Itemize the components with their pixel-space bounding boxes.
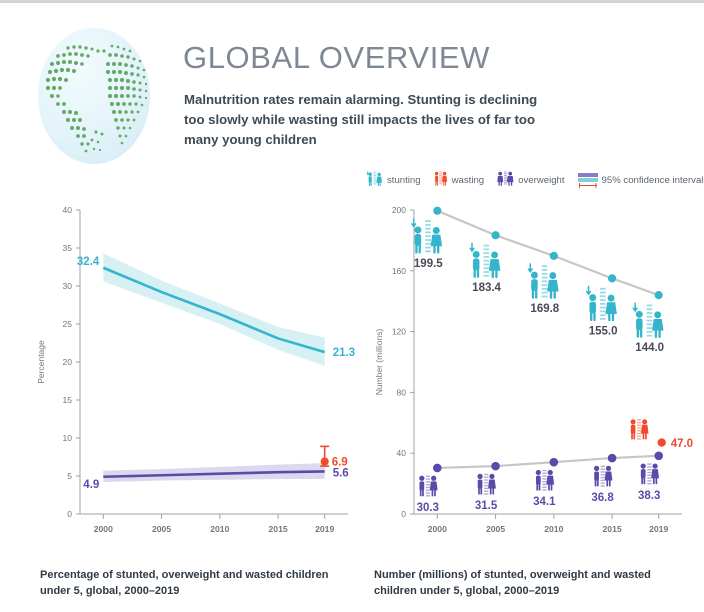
legend-label-stunting: stunting [387,175,421,186]
overweight-children-icon [496,170,515,190]
stunting-point [655,291,663,299]
legend-item-stunting: stunting [366,170,421,190]
overweight-value-label: 30.3 [417,502,439,514]
stunting-value-label: 155.0 [589,325,618,337]
svg-text:15: 15 [63,395,73,405]
svg-text:200: 200 [392,205,406,215]
overweight-pictogram [641,463,659,484]
overweight-end-label: 5.6 [333,467,349,479]
svg-text:2010: 2010 [210,524,229,534]
overweight-point [608,454,617,463]
svg-text:2019: 2019 [315,524,334,534]
percentage-chart: 051015202530354020002005201020152019Perc… [22,196,362,546]
wasting-value-label: 47.0 [671,438,693,450]
stunting-point [608,274,616,282]
header-section: GLOBAL OVERVIEW Malnutrition rates remai… [0,14,704,174]
stunting-confidence-band [103,253,324,365]
svg-text:2019: 2019 [649,524,668,534]
chart-legend: stunting [366,170,704,190]
svg-text:10: 10 [63,433,73,443]
overweight-value-label: 36.8 [591,492,614,504]
svg-text:0: 0 [401,509,406,519]
wasting-point [321,457,329,465]
svg-text:25: 25 [63,319,73,329]
svg-text:2000: 2000 [428,524,447,534]
svg-text:0: 0 [67,509,72,519]
top-divider [0,0,704,3]
stunting-point [550,252,558,260]
wasting-value-label: 6.9 [332,457,348,469]
stunting-end-label: 21.3 [333,347,355,359]
svg-text:120: 120 [392,327,406,337]
stunting-value-label: 183.4 [472,282,501,294]
stunting-pictogram [412,219,442,254]
svg-text:40: 40 [397,448,407,458]
caption-right: Number (millions) of stunted, overweight… [374,568,674,599]
svg-text:5: 5 [67,471,72,481]
legend-label-wasting: wasting [452,175,485,186]
legend-label-confidence-interval: 95% confidence interval [602,175,704,186]
svg-text:2000: 2000 [94,524,113,534]
stunting-value-label: 144.0 [635,342,664,354]
wasting-point [657,438,665,446]
overweight-pictogram [594,466,612,487]
stunting-value-label: 169.8 [530,303,559,315]
overweight-trend-line [437,456,658,468]
page-title: GLOBAL OVERVIEW [183,40,490,76]
svg-text:20: 20 [63,357,73,367]
wasting-children-icon [433,170,449,190]
svg-text:Percentage: Percentage [36,340,46,384]
overweight-value-label: 31.5 [475,500,498,512]
svg-text:2015: 2015 [603,524,622,534]
stunting-trend-line [437,211,658,295]
dotted-globe-icon [22,24,167,169]
number-millions-chart-svg: 0408012016020020002005201020152019Number… [366,196,696,546]
svg-text:35: 35 [63,243,73,253]
overweight-start-label: 4.9 [83,479,99,491]
svg-text:2005: 2005 [486,524,505,534]
stunting-pictogram [528,264,558,299]
overweight-value-label: 38.3 [638,490,660,502]
page-subtitle: Malnutrition rates remain alarming. Stun… [184,90,544,150]
caption-left: Percentage of stunted, overweight and wa… [40,568,340,599]
stunting-pictogram [587,286,617,321]
overweight-point [433,464,442,473]
overweight-pictogram [419,476,437,497]
legend-item-overweight: overweight [496,170,564,190]
stunting-value-label: 199.5 [414,258,443,270]
overweight-value-label: 34.1 [533,496,556,508]
infographic-page: GLOBAL OVERVIEW Malnutrition rates remai… [0,0,704,612]
legend-item-wasting: wasting [433,170,485,190]
stunting-point [433,207,441,215]
number-millions-chart: 0408012016020020002005201020152019Number… [366,196,696,546]
percentage-chart-svg: 051015202530354020002005201020152019Perc… [22,196,362,546]
legend-label-overweight: overweight [518,175,564,186]
svg-text:2005: 2005 [152,524,171,534]
overweight-point [550,458,559,467]
svg-text:2010: 2010 [544,524,563,534]
confidence-interval-icon [577,173,599,188]
svg-text:40: 40 [63,205,73,215]
wasting-pictogram [631,419,649,439]
stunting-point [491,231,499,239]
svg-text:160: 160 [392,266,406,276]
svg-text:80: 80 [397,387,407,397]
stunting-children-icon [366,170,384,190]
stunting-pictogram [633,303,663,338]
overweight-point [491,462,500,471]
overweight-point [654,451,663,460]
legend-item-confidence-interval: 95% confidence interval [577,173,704,188]
svg-text:2015: 2015 [269,524,288,534]
overweight-pictogram [477,474,495,495]
stunting-pictogram [470,243,500,278]
svg-text:Number (millions): Number (millions) [374,329,384,396]
svg-text:30: 30 [63,281,73,291]
stunting-start-label: 32.4 [77,256,100,268]
overweight-pictogram [536,470,554,491]
